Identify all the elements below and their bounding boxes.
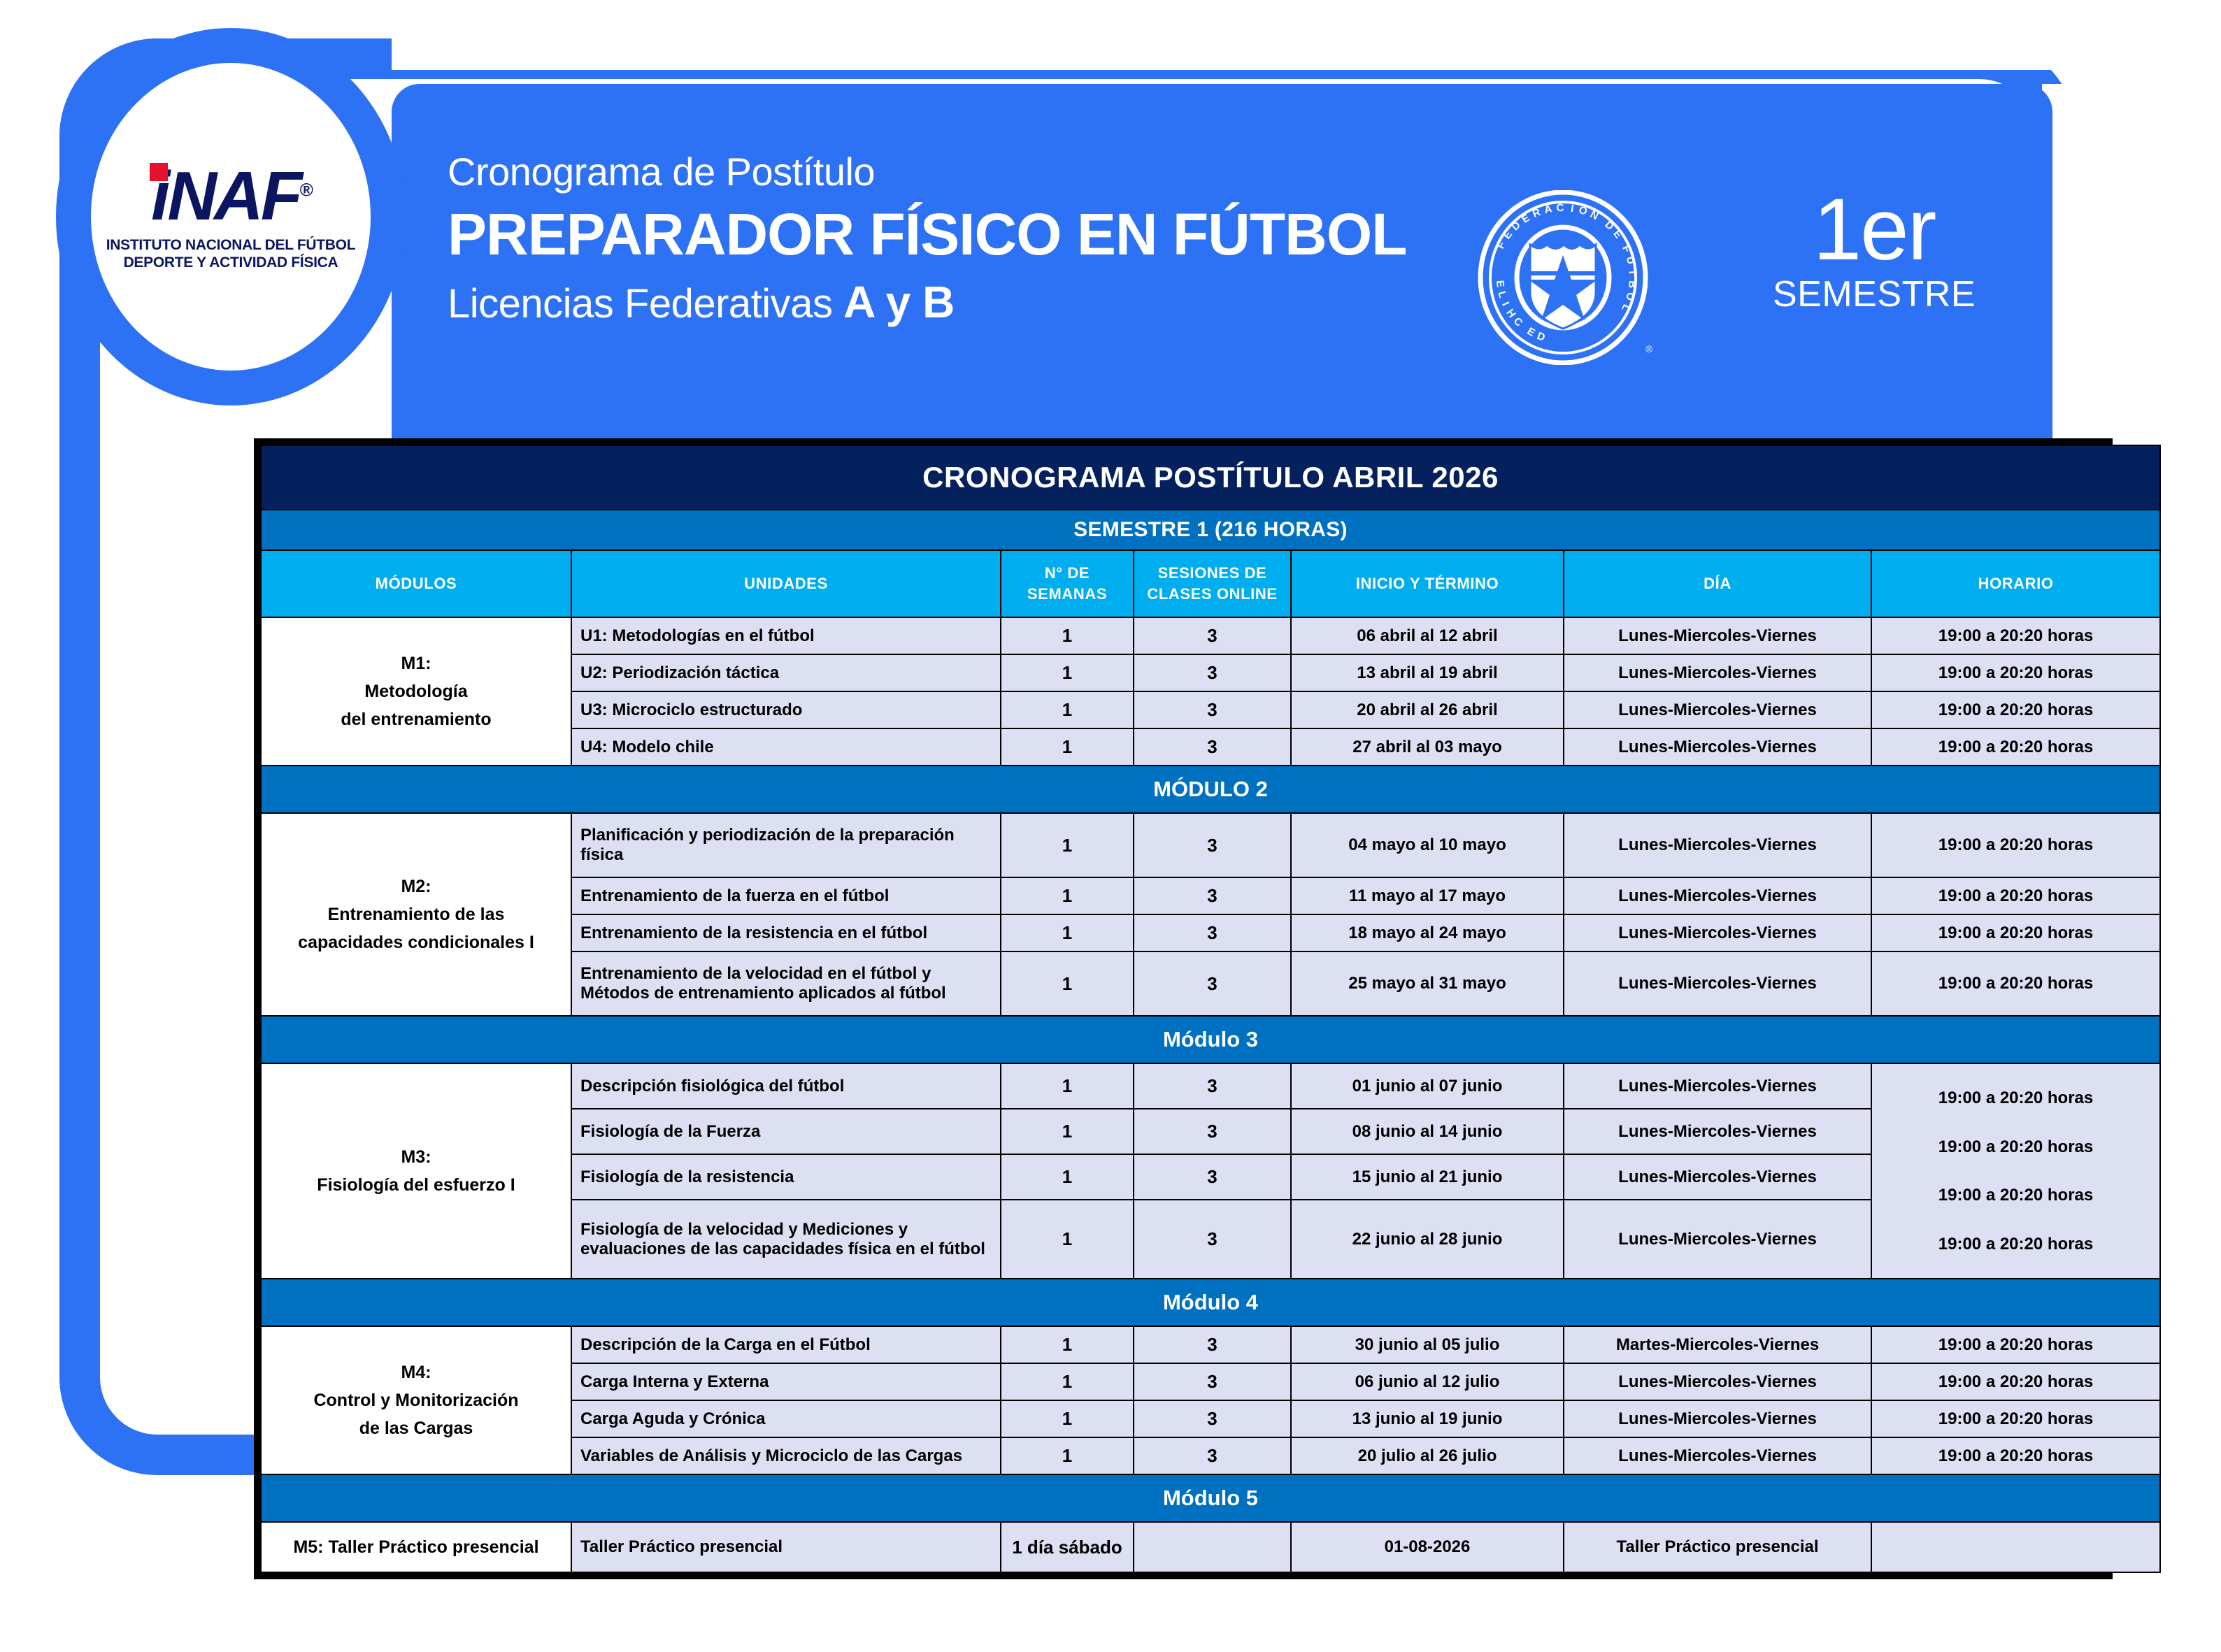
cell-semanas: 1 <box>1001 1400 1134 1437</box>
cell-semanas: 1 día sábado <box>1001 1522 1134 1572</box>
cell-sesiones: 3 <box>1134 654 1291 691</box>
frame-top-cutout <box>392 21 2140 70</box>
cronograma-table-body: CRONOGRAMA POSTÍTULO ABRIL 2026SEMESTRE … <box>261 445 2160 1572</box>
table-row: M2:Entrenamiento de lascapacidades condi… <box>261 813 2160 877</box>
cell-inicio-termino: 13 junio al 19 junio <box>1291 1400 1564 1437</box>
svg-text:®: ® <box>1645 343 1653 354</box>
cell-sesiones: 3 <box>1134 1400 1291 1437</box>
cell-semanas: 1 <box>1001 1363 1134 1400</box>
module-label-cell: M4:Control y Monitorizaciónde las Cargas <box>261 1326 571 1474</box>
svg-text:I: I <box>1570 203 1575 215</box>
cell-dia: Lunes-Miercoles-Viernes <box>1564 728 1871 766</box>
cell-dia: Lunes-Miercoles-Viernes <box>1564 691 1871 728</box>
cell-semanas: 1 <box>1001 617 1134 654</box>
cell-unidad: Descripción de la Carga en el Fútbol <box>571 1326 1001 1363</box>
inaf-sublabel: INSTITUTO NACIONAL DEL FÚTBOL DEPORTE Y … <box>106 237 355 272</box>
svg-text:D: D <box>1509 219 1523 234</box>
cell-inicio-termino: 20 abril al 26 abril <box>1291 691 1564 728</box>
cell-dia: Taller Práctico presencial <box>1564 1522 1871 1572</box>
cell-unidad: Planificación y periodización de la prep… <box>571 813 1001 877</box>
inaf-wordmark-text: iNAF <box>151 157 300 234</box>
svg-text:E: E <box>1520 211 1532 225</box>
cell-sesiones: 3 <box>1134 1326 1291 1363</box>
svg-text:A: A <box>1543 203 1554 216</box>
cell-unidad: Fisiología de la velocidad y Mediciones … <box>571 1200 1001 1279</box>
cell-dia: Lunes-Miercoles-Viernes <box>1564 914 1871 951</box>
col-header-modulos: MÓDULOS <box>261 550 571 617</box>
cell-inicio-termino: 11 mayo al 17 mayo <box>1291 877 1564 914</box>
table-row: M1:Metodologíadel entrenamientoU1: Metod… <box>261 617 2160 654</box>
module-name-line2: de las Cargas <box>267 1414 565 1442</box>
federacion-futbol-chile-crest-icon: F E D E R A C I O N D E F U T B O L D E <box>1462 190 1664 365</box>
cell-dia: Lunes-Miercoles-Viernes <box>1564 1154 1871 1200</box>
module-label-cell: M2:Entrenamiento de lascapacidades condi… <box>261 813 571 1016</box>
cell-inicio-termino: 30 junio al 05 julio <box>1291 1326 1564 1363</box>
cell-inicio-termino: 20 julio al 26 julio <box>1291 1437 1564 1474</box>
cell-sesiones: 3 <box>1134 951 1291 1016</box>
cell-inicio-termino: 13 abril al 19 abril <box>1291 654 1564 691</box>
cell-dia: Lunes-Miercoles-Viernes <box>1564 1063 1871 1109</box>
module-label-cell: M1:Metodologíadel entrenamiento <box>261 617 571 766</box>
cell-inicio-termino: 22 junio al 28 junio <box>1291 1200 1564 1279</box>
cell-sesiones: 3 <box>1134 813 1291 877</box>
cell-dia: Lunes-Miercoles-Viernes <box>1564 813 1871 877</box>
header-text-block: Cronograma de Postítulo PREPARADOR FÍSIC… <box>448 150 1406 328</box>
svg-text:B: B <box>1626 280 1638 290</box>
col-header-inicio-termino: INICIO Y TÉRMINO <box>1291 550 1564 617</box>
cell-semanas: 1 <box>1001 877 1134 914</box>
cell-horario: 19:00 a 20:20 horas <box>1871 813 2160 877</box>
svg-text:R: R <box>1531 206 1543 220</box>
cell-sesiones: 3 <box>1134 914 1291 951</box>
cell-unidad: Descripción fisiológica del fútbol <box>571 1063 1001 1109</box>
cell-horario: 19:00 a 20:20 horas <box>1871 617 2160 654</box>
module-label-cell: M5: Taller Práctico presencial <box>261 1522 571 1572</box>
inaf-sublabel-line2: DEPORTE Y ACTIVIDAD FÍSICA <box>106 254 355 272</box>
module-code: M2: <box>267 872 565 900</box>
cell-dia: Lunes-Miercoles-Viernes <box>1564 877 1871 914</box>
cell-horario: 19:00 a 20:20 horas <box>1871 914 2160 951</box>
cell-horario: 19:00 a 20:20 horas <box>1871 728 2160 766</box>
cell-semanas: 1 <box>1001 1326 1134 1363</box>
module-name-line1: Metodología <box>267 677 565 705</box>
cell-sesiones: 3 <box>1134 1200 1291 1279</box>
cell-dia: Lunes-Miercoles-Viernes <box>1564 617 1871 654</box>
module-label-cell: M3:Fisiología del esfuerzo I <box>261 1063 571 1279</box>
cell-dia: Lunes-Miercoles-Viernes <box>1564 1109 1871 1154</box>
cell-sesiones: 3 <box>1134 617 1291 654</box>
col-header-semanas: N° DESEMANAS <box>1001 550 1134 617</box>
table-title: CRONOGRAMA POSTÍTULO ABRIL 2026 <box>261 445 2160 510</box>
cell-horario: 19:00 a 20:20 horas <box>1871 654 2160 691</box>
svg-text:E: E <box>1494 280 1506 289</box>
cell-semanas: 1 <box>1001 951 1134 1016</box>
cell-unidad: Fisiología de la Fuerza <box>571 1109 1001 1154</box>
cell-unidad: Entrenamiento de la fuerza en el fútbol <box>571 877 1001 914</box>
cell-horario <box>1871 1522 2160 1572</box>
semester-number: 1er <box>1769 189 1979 272</box>
module-separator-label: MÓDULO 2 <box>261 766 2160 813</box>
module-name-line2: capacidades condicionales I <box>267 928 565 956</box>
table-row: M4:Control y Monitorizaciónde las Cargas… <box>261 1326 2160 1363</box>
cronograma-table: CRONOGRAMA POSTÍTULO ABRIL 2026SEMESTRE … <box>260 445 2161 1573</box>
semester-bar-row: SEMESTRE 1 (216 HORAS) <box>261 510 2160 550</box>
module-code: M4: <box>267 1358 565 1386</box>
page-title: PREPARADOR FÍSICO EN FÚTBOL <box>448 201 1406 268</box>
column-header-row: MÓDULOSUNIDADESN° DESEMANASSESIONES DECL… <box>261 550 2160 617</box>
svg-text:D: D <box>1536 330 1548 344</box>
cell-unidad: Entrenamiento de la resistencia en el fú… <box>571 914 1001 951</box>
cell-horario-merged: 19:00 a 20:20 horas19:00 a 20:20 horas19… <box>1871 1063 2160 1279</box>
semester-badge: 1er SEMESTRE <box>1769 189 1979 315</box>
cell-dia: Martes-Miercoles-Viernes <box>1564 1326 1871 1363</box>
cell-semanas: 1 <box>1001 654 1134 691</box>
module-name-line1: Entrenamiento de las <box>267 900 565 928</box>
cell-semanas: 1 <box>1001 1200 1134 1279</box>
col-header-unidades: UNIDADES <box>571 550 1001 617</box>
header-subtitle-bold: A y B <box>843 277 955 327</box>
module-separator-row: Módulo 3 <box>261 1016 2160 1063</box>
cell-unidad: Entrenamiento de la velocidad en el fútb… <box>571 951 1001 1016</box>
cell-semanas: 1 <box>1001 728 1134 766</box>
cell-semanas: 1 <box>1001 1063 1134 1109</box>
cell-unidad: Fisiología de la resistencia <box>571 1154 1001 1200</box>
module-separator-row: Módulo 4 <box>261 1279 2160 1326</box>
module-separator-label: Módulo 4 <box>261 1279 2160 1326</box>
horario-line: 19:00 a 20:20 horas <box>1879 1123 2152 1172</box>
cell-sesiones: 3 <box>1134 728 1291 766</box>
cell-unidad: U1: Metodologías en el fútbol <box>571 617 1001 654</box>
module-code: M1: <box>267 649 565 677</box>
inaf-red-accent <box>150 163 168 181</box>
cell-sesiones <box>1134 1522 1291 1572</box>
inaf-wordmark: iNAF® <box>151 161 310 230</box>
svg-text:N: N <box>1588 208 1601 223</box>
cell-dia: Lunes-Miercoles-Viernes <box>1564 951 1871 1016</box>
cell-sesiones: 3 <box>1134 877 1291 914</box>
cell-inicio-termino: 08 junio al 14 junio <box>1291 1109 1564 1154</box>
cell-unidad: Carga Interna y Externa <box>571 1363 1001 1400</box>
col-header-dia: DÍA <box>1564 550 1871 617</box>
cell-dia: Lunes-Miercoles-Viernes <box>1564 1200 1871 1279</box>
cell-sesiones: 3 <box>1134 1437 1291 1474</box>
cell-dia: Lunes-Miercoles-Viernes <box>1564 654 1871 691</box>
module-separator-row: MÓDULO 2 <box>261 766 2160 813</box>
table-title-row: CRONOGRAMA POSTÍTULO ABRIL 2026 <box>261 445 2160 510</box>
cell-unidad: U4: Modelo chile <box>571 728 1001 766</box>
cell-sesiones: 3 <box>1134 1154 1291 1200</box>
inaf-logo-inner: iNAF® INSTITUTO NACIONAL DEL FÚTBOL DEPO… <box>91 63 371 371</box>
cell-horario: 19:00 a 20:20 horas <box>1871 877 2160 914</box>
cell-unidad: U3: Microciclo estructurado <box>571 691 1001 728</box>
svg-text:O: O <box>1578 204 1590 218</box>
module-separator-row: Módulo 5 <box>261 1474 2160 1522</box>
cell-semanas: 1 <box>1001 813 1134 877</box>
table-row: M5: Taller Práctico presencialTaller Prá… <box>261 1522 2160 1572</box>
cell-dia: Lunes-Miercoles-Viernes <box>1564 1400 1871 1437</box>
cell-semanas: 1 <box>1001 1154 1134 1200</box>
cell-inicio-termino: 06 junio al 12 julio <box>1291 1363 1564 1400</box>
inaf-sublabel-line1: INSTITUTO NACIONAL DEL FÚTBOL <box>106 237 355 254</box>
cell-horario: 19:00 a 20:20 horas <box>1871 1400 2160 1437</box>
horario-line: 19:00 a 20:20 horas <box>1879 1171 2152 1220</box>
cell-unidad: U2: Periodización táctica <box>571 654 1001 691</box>
inaf-logo: iNAF® INSTITUTO NACIONAL DEL FÚTBOL DEPO… <box>56 28 406 405</box>
module-name-line2: del entrenamiento <box>267 705 565 733</box>
header-subtitle: Licencias Federativas A y B <box>448 276 1406 328</box>
cell-inicio-termino: 04 mayo al 10 mayo <box>1291 813 1564 877</box>
svg-text:E: E <box>1501 228 1515 241</box>
poster-root: iNAF® INSTITUTO NACIONAL DEL FÚTBOL DEPO… <box>0 0 2221 1652</box>
horario-line: 19:00 a 20:20 horas <box>1879 1220 2152 1269</box>
cell-horario: 19:00 a 20:20 horas <box>1871 1363 2160 1400</box>
module-name-line1: Control y Monitorización <box>267 1386 565 1414</box>
cell-inicio-termino: 01-08-2026 <box>1291 1522 1564 1572</box>
svg-text:L: L <box>1495 290 1508 300</box>
cell-horario: 19:00 a 20:20 horas <box>1871 1437 2160 1474</box>
cell-sesiones: 3 <box>1134 1109 1291 1154</box>
module-separator-label: Módulo 5 <box>261 1474 2160 1522</box>
cell-semanas: 1 <box>1001 691 1134 728</box>
cell-horario: 19:00 a 20:20 horas <box>1871 691 2160 728</box>
svg-text:I: I <box>1499 300 1512 308</box>
cell-semanas: 1 <box>1001 1437 1134 1474</box>
module-separator-label: Módulo 3 <box>261 1016 2160 1063</box>
table-row: M3:Fisiología del esfuerzo IDescripción … <box>261 1063 2160 1109</box>
cell-inicio-termino: 06 abril al 12 abril <box>1291 617 1564 654</box>
cell-dia: Lunes-Miercoles-Viernes <box>1564 1437 1871 1474</box>
svg-text:D: D <box>1602 219 1616 234</box>
cell-sesiones: 3 <box>1134 1063 1291 1109</box>
cell-unidad: Taller Práctico presencial <box>571 1522 1001 1572</box>
cell-dia: Lunes-Miercoles-Viernes <box>1564 1363 1871 1400</box>
cell-horario: 19:00 a 20:20 horas <box>1871 1326 2160 1363</box>
module-code: M5: Taller Práctico presencial <box>267 1533 565 1561</box>
cronograma-table-shell: CRONOGRAMA POSTÍTULO ABRIL 2026SEMESTRE … <box>254 438 2113 1579</box>
cell-sesiones: 3 <box>1134 1363 1291 1400</box>
cell-sesiones: 3 <box>1134 691 1291 728</box>
cell-inicio-termino: 15 junio al 21 junio <box>1291 1154 1564 1200</box>
cell-unidad: Variables de Análisis y Microciclo de la… <box>571 1437 1001 1474</box>
cell-unidad: Carga Aguda y Crónica <box>571 1400 1001 1437</box>
header-kicker: Cronograma de Postítulo <box>448 150 1406 194</box>
svg-text:C: C <box>1556 202 1564 214</box>
svg-text:E: E <box>1525 325 1538 339</box>
registered-mark-icon: ® <box>300 180 310 201</box>
cell-inicio-termino: 27 abril al 03 mayo <box>1291 728 1564 766</box>
svg-text:E: E <box>1611 228 1624 241</box>
header-subtitle-plain: Licencias Federativas <box>448 281 843 326</box>
cell-inicio-termino: 18 mayo al 24 mayo <box>1291 914 1564 951</box>
cell-horario: 19:00 a 20:20 horas <box>1871 951 2160 1016</box>
semester-bar-label: SEMESTRE 1 (216 HORAS) <box>261 510 2160 550</box>
cell-inicio-termino: 01 junio al 07 junio <box>1291 1063 1564 1109</box>
cell-inicio-termino: 25 mayo al 31 mayo <box>1291 951 1564 1016</box>
col-header-sesiones: SESIONES DECLASES ONLINE <box>1134 550 1291 617</box>
cell-semanas: 1 <box>1001 1109 1134 1154</box>
horario-line: 19:00 a 20:20 horas <box>1879 1074 2152 1123</box>
semester-word: SEMESTRE <box>1769 273 1979 315</box>
col-header-horario: HORARIO <box>1871 550 2160 617</box>
svg-text:T: T <box>1626 268 1638 276</box>
module-name-line1: Fisiología del esfuerzo I <box>267 1171 565 1199</box>
cell-semanas: 1 <box>1001 914 1134 951</box>
module-code: M3: <box>267 1143 565 1171</box>
